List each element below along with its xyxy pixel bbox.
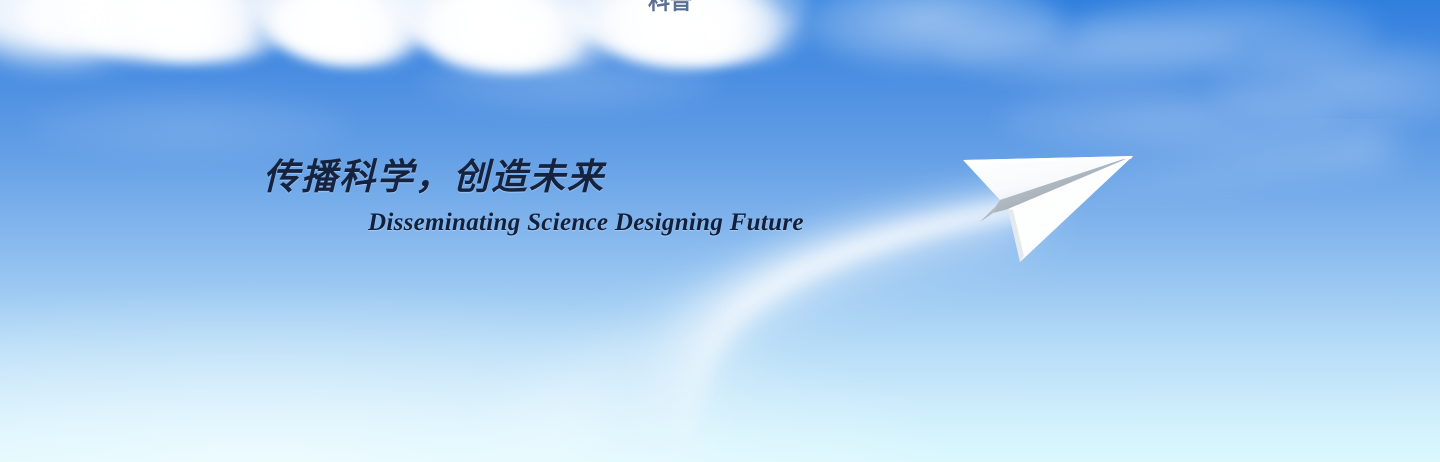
slogan-chinese: 传播科学，创造未来 [263,148,605,200]
sky-banner: 科普 [0,0,1440,462]
slogan-english: Disseminating Science Designing Future [368,209,804,237]
clipped-top-text: 科普 [648,0,692,16]
